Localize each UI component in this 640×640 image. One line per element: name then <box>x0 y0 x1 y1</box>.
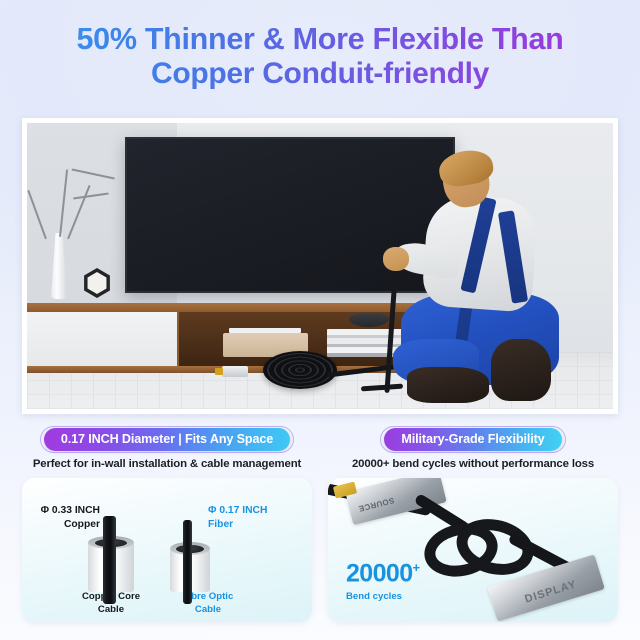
subtitle-flexibility: 20000+ bend cycles without performance l… <box>328 458 618 470</box>
hero-photo <box>27 123 613 409</box>
coiled-cable <box>263 351 337 389</box>
hero-photo-frame <box>22 118 618 414</box>
bend-cycles-plus: + <box>413 560 420 575</box>
headline-line-2: Copper Conduit-friendly <box>0 57 640 92</box>
feature-section: 0.17 INCH Diameter | Fits Any Space Perf… <box>0 428 640 622</box>
technician-installer <box>379 153 579 403</box>
material-label-fiber: Fiber <box>208 519 233 530</box>
badge-diameter: 0.17 INCH Diameter | Fits Any Space <box>44 428 290 451</box>
copper-cable-rod <box>103 516 116 604</box>
diameter-label-fiber: Φ 0.17 INCH Fiber <box>208 504 267 532</box>
bend-cycles-number: 20000+ <box>346 561 420 586</box>
technician-boot <box>491 339 551 401</box>
bend-cycles-value: 20000 <box>346 559 413 587</box>
material-label-copper: Copper <box>64 519 100 530</box>
cylinder-name-fiber: Fibre Optic Cable <box>162 591 254 616</box>
technician-hand <box>383 247 409 271</box>
panel-knotted-cable: SOURCE DISPLAY 20000+ Bend cycles <box>328 478 618 622</box>
panel-cylinder-comparison: Φ 0.33 INCH Copper Φ 0.17 INCH Fiber Cop… <box>22 478 312 622</box>
cylinder-name-copper-line2: Cable <box>98 604 124 615</box>
feature-diameter: 0.17 INCH Diameter | Fits Any Space Perf… <box>22 428 312 622</box>
page-headline: 50% Thinner & More Flexible Than Copper … <box>0 22 640 92</box>
feature-flexibility: Military-Grade Flexibility 20000+ bend c… <box>328 428 618 622</box>
tv-console-door <box>27 312 179 366</box>
subtitle-diameter: Perfect for in-wall installation & cable… <box>22 458 312 470</box>
cable-connector-plug <box>222 366 248 377</box>
badge-flexibility: Military-Grade Flexibility <box>384 428 561 451</box>
bend-cycles-caption: Bend cycles <box>346 591 420 602</box>
bend-cycles-stat: 20000+ Bend cycles <box>346 561 420 602</box>
diameter-value-fiber: Φ 0.17 INCH <box>208 505 267 516</box>
marketing-infographic: 50% Thinner & More Flexible Than Copper … <box>0 0 640 640</box>
technician-boot <box>407 367 489 403</box>
diameter-label-copper: Φ 0.33 INCH Copper <box>32 504 100 532</box>
fiber-cable-rod <box>183 520 192 604</box>
badge-row: Military-Grade Flexibility <box>328 428 618 451</box>
headline-line-1: 50% Thinner & More Flexible Than <box>0 22 640 57</box>
diameter-value-copper: Φ 0.33 INCH <box>41 505 100 516</box>
badge-row: 0.17 INCH Diameter | Fits Any Space <box>22 428 312 451</box>
cylinder-name-fiber-line2: Cable <box>195 604 221 615</box>
